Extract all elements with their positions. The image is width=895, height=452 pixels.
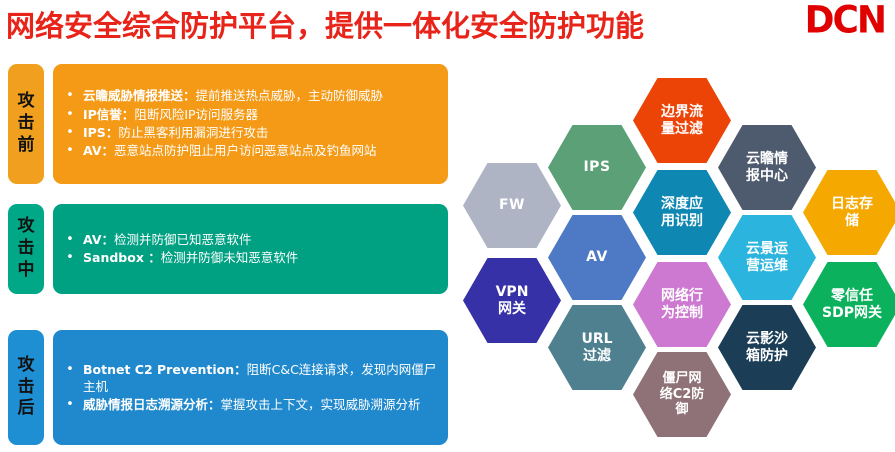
- stage-label-char: 攻: [18, 216, 35, 238]
- hexagon-label: URL过滤: [571, 331, 622, 365]
- bullet-item: •威胁情报日志溯源分析：掌握攻击上下文，实现威胁溯源分析: [57, 396, 438, 414]
- bullet-dot-icon: •: [57, 396, 83, 414]
- hexagon-label: 僵尸网络C2防御: [650, 371, 715, 418]
- hexagon-tile[interactable]: IPS: [548, 125, 646, 210]
- hexagon-label-line: 零信任: [822, 288, 882, 305]
- bullet-dot-icon: •: [57, 231, 83, 249]
- hexagon-label-line: 日志存: [831, 196, 873, 213]
- bullet-description: 提前推送热点威胁，主动防御威胁: [196, 88, 384, 103]
- bullet-term: AV：: [83, 143, 114, 158]
- bullet-dot-icon: •: [57, 361, 83, 379]
- stage-label-char: 击: [18, 113, 35, 135]
- stage-during-attack: 攻击中•AV：检测并防御已知恶意软件•Sandbox ：检测并防御未知恶意软件: [8, 204, 448, 294]
- hexagon-label: 零信任SDP网关: [812, 288, 892, 322]
- bullet-text: 云瞻威胁情报推送：提前推送热点威胁，主动防御威胁: [83, 87, 438, 105]
- bullet-description: 恶意站点防护阻止用户访问恶意站点及钓鱼网站: [114, 143, 377, 158]
- stage-label-char: 后: [18, 398, 35, 420]
- hexagon-tile[interactable]: 零信任SDP网关: [803, 262, 895, 347]
- bullet-item: •Botnet C2 Prevention：阻断C&C连接请求，发现内网僵尸主机: [57, 361, 438, 397]
- bullet-description: 检测并防御已知恶意软件: [114, 232, 252, 247]
- bullet-dot-icon: •: [57, 106, 83, 124]
- hexagon-label-line: 营运维: [746, 258, 788, 275]
- stage-label-char: 击: [18, 238, 35, 260]
- bullet-description: 检测并防御未知恶意软件: [161, 250, 299, 265]
- hexagon-label-line: 用识别: [661, 213, 703, 230]
- capability-hexagon-cluster: FWVPN网关IPSAVURL过滤边界流量过滤深度应用识别网络行为控制僵尸网络C…: [455, 60, 895, 452]
- bullet-item: •AV：检测并防御已知恶意软件: [57, 231, 438, 249]
- hexagon-label-line: 网关: [496, 301, 529, 318]
- hexagon-tile[interactable]: 边界流量过滤: [633, 78, 731, 163]
- hexagon-tile[interactable]: 日志存储: [803, 170, 895, 255]
- bullet-term: 威胁情报日志溯源分析：: [83, 397, 221, 412]
- bullet-item: •IPS：防止黑客利用漏洞进行攻击: [57, 124, 438, 142]
- bullet-item: •云瞻威胁情报推送：提前推送热点威胁，主动防御威胁: [57, 87, 438, 105]
- bullet-item: •IP信誉：阻断风险IP访问服务器: [57, 106, 438, 124]
- bullet-text: AV：检测并防御已知恶意软件: [83, 231, 438, 249]
- bullet-term: Botnet C2 Prevention：: [83, 362, 247, 377]
- stage-label-during-attack: 攻击中: [8, 204, 44, 294]
- hexagon-label-line: 边界流: [661, 104, 703, 121]
- bullet-text: AV：恶意站点防护阻止用户访问恶意站点及钓鱼网站: [83, 142, 438, 160]
- stage-content-during-attack: •AV：检测并防御已知恶意软件•Sandbox ：检测并防御未知恶意软件: [53, 204, 448, 294]
- hexagon-label: 网络行为控制: [651, 288, 713, 322]
- hexagon-tile[interactable]: 云影沙箱防护: [718, 305, 816, 390]
- bullet-text: IP信誉：阻断风险IP访问服务器: [83, 106, 438, 124]
- stage-label-char: 中: [18, 260, 35, 282]
- hexagon-label-line: 深度应: [661, 196, 703, 213]
- bullet-term: IP信誉：: [83, 107, 134, 122]
- hexagon-label-line: 僵尸网: [660, 371, 705, 387]
- hexagon-label-line: 量过滤: [661, 121, 703, 138]
- hexagon-label-line: 云瞻情: [746, 151, 788, 168]
- slide-header: 网络安全综合防护平台，提供一体化安全防护功能 DCN: [0, 0, 895, 52]
- hexagon-tile[interactable]: AV: [548, 215, 646, 300]
- bullet-term: 云瞻威胁情报推送：: [83, 88, 196, 103]
- stage-label-char: 击: [18, 377, 35, 399]
- bullet-text: Sandbox ：检测并防御未知恶意软件: [83, 249, 438, 267]
- bullet-item: •Sandbox ：检测并防御未知恶意软件: [57, 249, 438, 267]
- hexagon-label-line: 御: [660, 402, 705, 418]
- hexagon-label: FW: [489, 197, 535, 214]
- bullet-description: 阻断风险IP访问服务器: [134, 107, 258, 122]
- hexagon-label-line: VPN: [496, 284, 529, 301]
- bullet-term: AV：: [83, 232, 114, 247]
- bullet-dot-icon: •: [57, 142, 83, 160]
- bullet-text: IPS：防止黑客利用漏洞进行攻击: [83, 124, 438, 142]
- hexagon-label-line: 网络行: [661, 288, 703, 305]
- hexagon-label-line: 为控制: [661, 305, 703, 322]
- hexagon-label: 云景运营运维: [736, 241, 798, 275]
- bullet-dot-icon: •: [57, 249, 83, 267]
- hexagon-label-line: 过滤: [581, 348, 612, 365]
- hexagon-label-line: 云景运: [746, 241, 788, 258]
- stage-label-char: 攻: [18, 91, 35, 113]
- stage-label-char: 攻: [18, 355, 35, 377]
- bullet-term: Sandbox ：: [83, 250, 161, 265]
- hexagon-tile[interactable]: VPN网关: [463, 258, 561, 343]
- dcn-logo: DCN: [805, 0, 885, 42]
- bullet-text: 威胁情报日志溯源分析：掌握攻击上下文，实现威胁溯源分析: [83, 396, 438, 414]
- hexagon-label-line: 络C2防: [660, 387, 705, 403]
- stage-label-pre-attack: 攻击前: [8, 64, 44, 184]
- hexagon-label-line: FW: [499, 197, 525, 214]
- hexagon-label-line: SDP网关: [822, 305, 882, 322]
- stage-label-char: 前: [18, 135, 35, 157]
- hexagon-tile[interactable]: 云瞻情报中心: [718, 125, 816, 210]
- bullet-description: 防止黑客利用漏洞进行攻击: [118, 125, 268, 140]
- bullet-term: IPS：: [83, 125, 118, 140]
- hexagon-label: 边界流量过滤: [651, 104, 713, 138]
- hexagon-tile[interactable]: 网络行为控制: [633, 262, 731, 347]
- slide-root: 网络安全综合防护平台，提供一体化安全防护功能 DCN 攻击前•云瞻威胁情报推送：…: [0, 0, 895, 452]
- bullet-dot-icon: •: [57, 124, 83, 142]
- hexagon-label-line: 云影沙: [746, 331, 788, 348]
- hexagon-label-line: 报中心: [746, 168, 788, 185]
- bullet-item: •AV：恶意站点防护阻止用户访问恶意站点及钓鱼网站: [57, 142, 438, 160]
- hexagon-label: IPS: [573, 159, 620, 176]
- hexagon-label: 云瞻情报中心: [736, 151, 798, 185]
- hexagon-tile[interactable]: URL过滤: [548, 305, 646, 390]
- hexagon-label: 深度应用识别: [651, 196, 713, 230]
- hexagon-label-line: 储: [831, 213, 873, 230]
- hexagon-tile[interactable]: 云景运营运维: [718, 215, 816, 300]
- hexagon-tile[interactable]: FW: [463, 163, 561, 248]
- stage-content-post-attack: •Botnet C2 Prevention：阻断C&C连接请求，发现内网僵尸主机…: [53, 330, 448, 445]
- hexagon-label: 云影沙箱防护: [736, 331, 798, 365]
- hexagon-label: VPN网关: [486, 284, 539, 318]
- hexagon-label-line: URL: [581, 331, 612, 348]
- stage-label-post-attack: 攻击后: [8, 330, 44, 445]
- hexagon-label-line: AV: [586, 249, 608, 266]
- hexagon-label-line: IPS: [583, 159, 610, 176]
- hexagon-label: 日志存储: [821, 196, 883, 230]
- stage-content-pre-attack: •云瞻威胁情报推送：提前推送热点威胁，主动防御威胁•IP信誉：阻断风险IP访问服…: [53, 64, 448, 184]
- bullet-description: 掌握攻击上下文，实现威胁溯源分析: [221, 397, 421, 412]
- hexagon-label-line: 箱防护: [746, 348, 788, 365]
- hexagon-tile[interactable]: 深度应用识别: [633, 170, 731, 255]
- page-title: 网络安全综合防护平台，提供一体化安全防护功能: [6, 3, 644, 45]
- hexagon-tile[interactable]: 僵尸网络C2防御: [633, 352, 731, 437]
- bullet-text: Botnet C2 Prevention：阻断C&C连接请求，发现内网僵尸主机: [83, 361, 438, 397]
- stage-post-attack: 攻击后•Botnet C2 Prevention：阻断C&C连接请求，发现内网僵…: [8, 330, 448, 445]
- hexagon-label: AV: [576, 249, 618, 266]
- bullet-dot-icon: •: [57, 87, 83, 105]
- stage-pre-attack: 攻击前•云瞻威胁情报推送：提前推送热点威胁，主动防御威胁•IP信誉：阻断风险IP…: [8, 64, 448, 184]
